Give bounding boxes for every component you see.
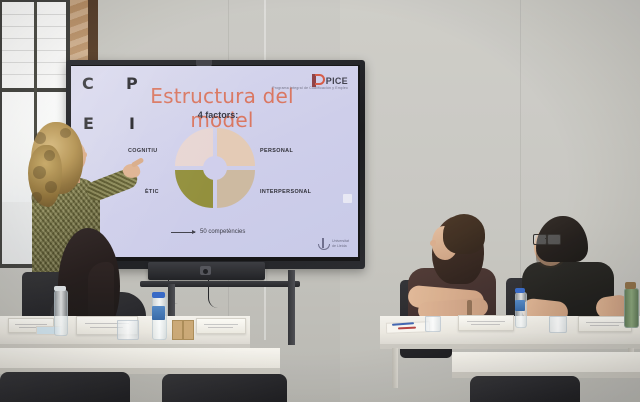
display-stand-crossbar — [140, 281, 300, 287]
sugar-packet[interactable] — [183, 320, 194, 340]
universitat-lleida-logo: Universitat de Lleida — [318, 237, 349, 250]
table-foreground-left — [0, 348, 280, 370]
bottle-cap — [54, 286, 66, 291]
name-card[interactable] — [458, 315, 514, 331]
name-card[interactable] — [196, 318, 246, 334]
donut-letter-i: I — [129, 114, 135, 133]
sugar-packet[interactable] — [172, 320, 183, 340]
slide-title: Estructura del model — [117, 84, 327, 132]
udl-logo-text: Universitat de Lleida — [332, 239, 349, 248]
competency-donut-diagram — [175, 128, 255, 208]
chair — [162, 374, 287, 402]
wall-seam-right — [520, 0, 521, 300]
green-bottle[interactable] — [624, 288, 639, 328]
competencies-label: 50 competències — [200, 229, 245, 235]
donut-label-interpersonal: INTERPERSONAL — [260, 189, 311, 195]
table-foreground-right — [452, 352, 640, 374]
chair — [470, 376, 580, 402]
water-bottle[interactable] — [54, 290, 68, 336]
chair — [0, 372, 130, 402]
donut-label-cognitiu: COGNITIU — [128, 148, 158, 154]
drinking-glass[interactable] — [425, 316, 441, 332]
bottle-cap — [515, 288, 525, 293]
bottle-label — [515, 300, 525, 311]
screen-corner-marker — [343, 194, 352, 203]
display-stand-leg — [288, 270, 295, 345]
pice-logo-tagline: Programa Integral de Cualificación y Emp… — [272, 86, 348, 90]
donut-label-personal: PERSONAL — [260, 148, 293, 154]
udl-line-2: de Lleida — [332, 244, 349, 248]
donut-letter-c: C — [82, 74, 94, 93]
drinking-glass[interactable] — [549, 316, 567, 333]
eyeglasses-icon — [547, 234, 561, 245]
drinking-glass[interactable] — [117, 320, 139, 340]
conference-camera-icon — [200, 266, 211, 275]
donut-letter-e: E — [83, 114, 94, 133]
slide-subtitle: 4 factors: — [143, 110, 293, 120]
table-leg — [392, 348, 398, 388]
photo-scene: Estructura del model 4 factors: PICE Pro… — [0, 0, 640, 402]
bottle-cap — [625, 282, 636, 289]
competencies-footnote: 50 competències — [171, 229, 245, 235]
soundbar-camera-unit — [148, 262, 265, 280]
bottle-label — [152, 306, 165, 320]
arrow-right-icon — [171, 232, 195, 233]
pice-logo-text: PICE — [326, 76, 348, 86]
udl-line-1: Universitat — [332, 239, 349, 243]
slide-screen[interactable]: Estructura del model 4 factors: PICE Pro… — [71, 66, 358, 257]
eyeglasses-icon — [533, 234, 547, 245]
table-edge — [380, 344, 640, 349]
universitat-lleida-logo-icon — [318, 237, 329, 250]
bottle-cap — [152, 292, 165, 298]
donut-label-etic: ÈTIC — [145, 189, 159, 195]
donut-letter-p: P — [126, 74, 138, 93]
donut-center-hole — [203, 156, 227, 180]
